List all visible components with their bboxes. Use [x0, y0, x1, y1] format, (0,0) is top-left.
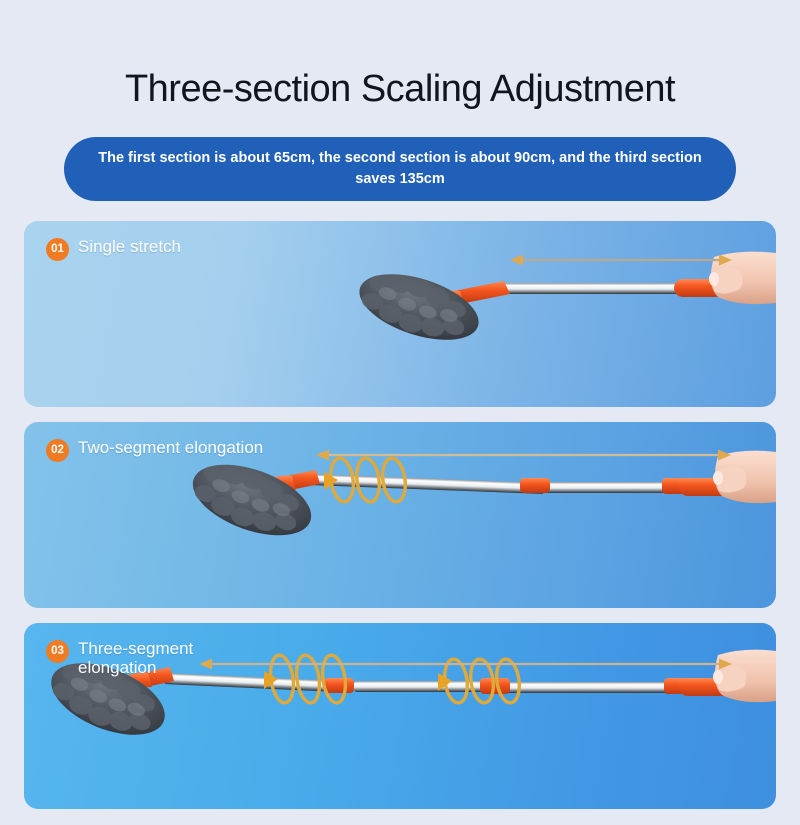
step-badge-03: 03 [46, 640, 69, 663]
panel-header: 02 Two-segment elongation [46, 438, 263, 462]
spec-banner: The first section is about 65cm, the sec… [64, 137, 736, 201]
panel-title-02: Two-segment elongation [78, 438, 263, 457]
panel-title-03: Three-segment elongation [78, 639, 193, 677]
panel-list: 01 Single stretch [0, 221, 800, 809]
step-badge-02: 02 [46, 439, 69, 462]
page-title: Three-section Scaling Adjustment [0, 25, 800, 111]
panel-header: 01 Single stretch [46, 237, 181, 261]
panel-two-segment[interactable]: 02 Two-segment elongation [24, 422, 776, 608]
panel-three-segment[interactable]: 03 Three-segment elongation [24, 623, 776, 809]
panel-single-stretch[interactable]: 01 Single stretch [24, 221, 776, 407]
step-badge-01: 01 [46, 238, 69, 261]
banner-container: The first section is about 65cm, the sec… [0, 137, 800, 201]
double-headed-arrow-icon [199, 658, 732, 670]
panel-title-01: Single stretch [78, 237, 181, 256]
panel-header: 03 Three-segment elongation [46, 639, 193, 677]
double-headed-arrow-icon [316, 449, 731, 461]
double-headed-arrow-icon [510, 254, 732, 266]
